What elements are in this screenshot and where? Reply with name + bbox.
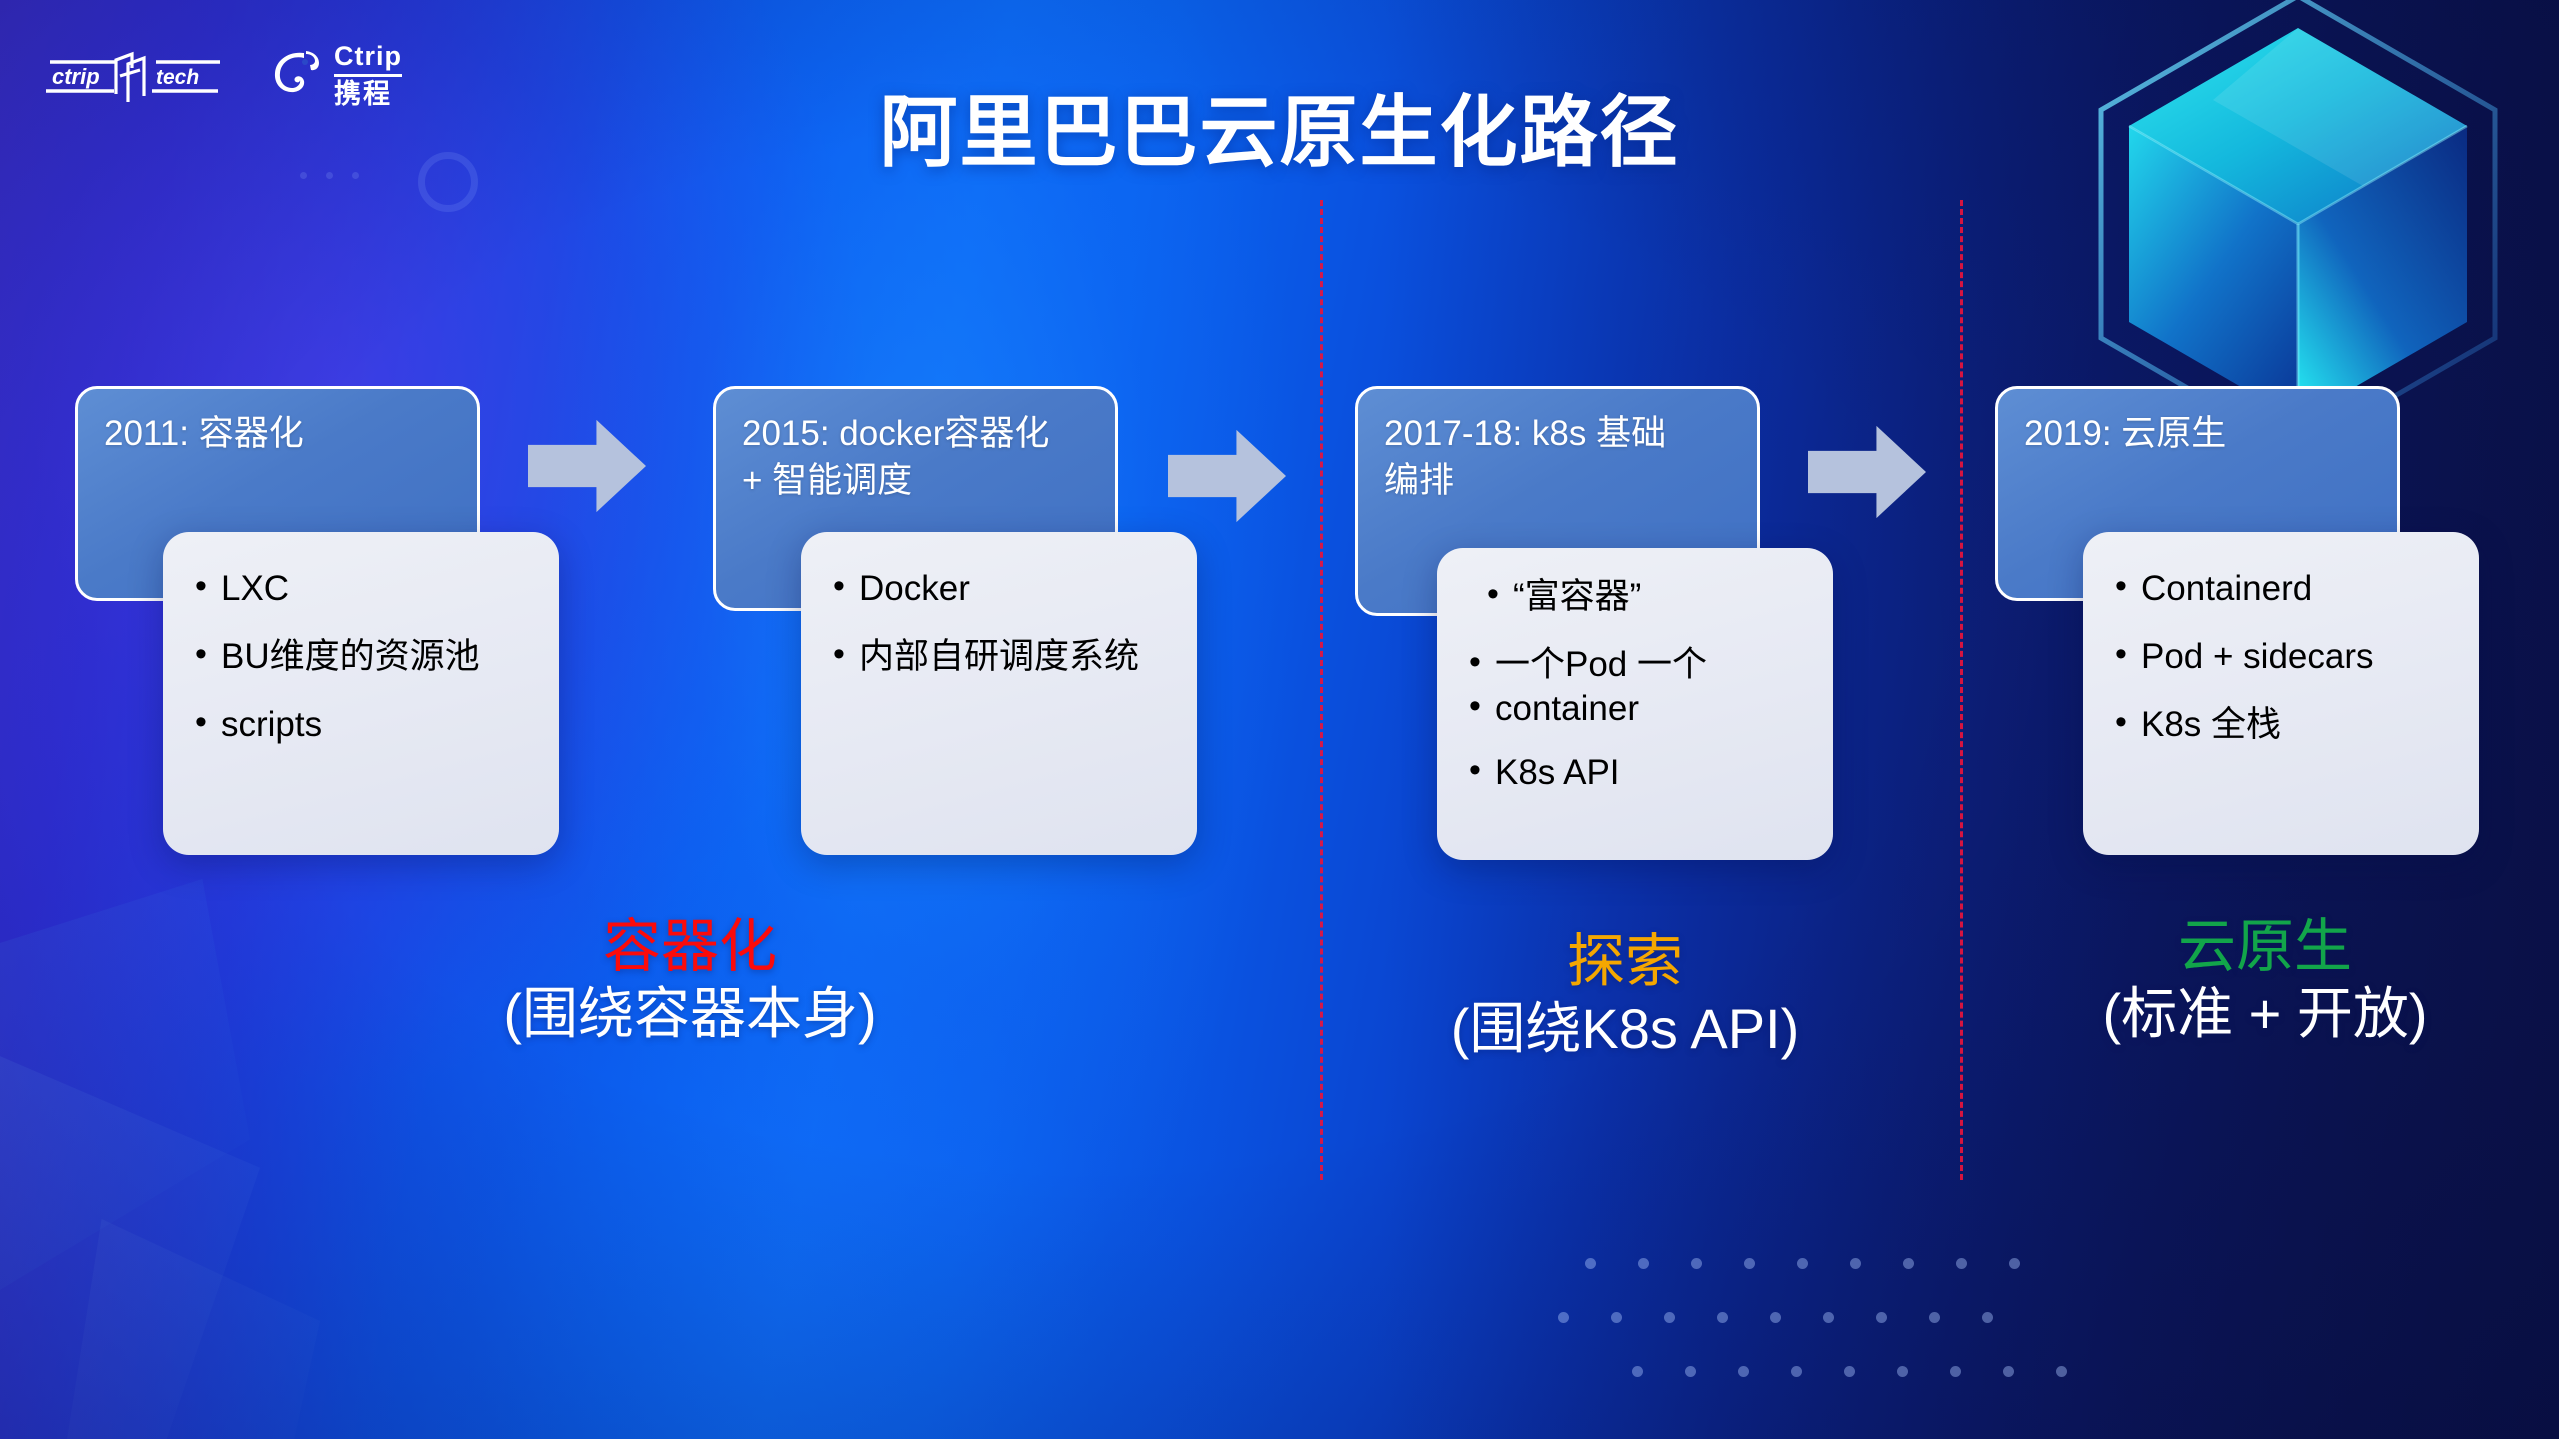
list-item-continuation: container: [1467, 688, 1803, 730]
stage-4-bullet-list: Containerd Pod + sidecars K8s 全栈: [2113, 568, 2449, 746]
phase-label-containerization: 容器化 (围绕容器本身): [355, 915, 1025, 1047]
list-item: scripts: [193, 704, 529, 746]
stage-2-body-card: Docker 内部自研调度系统: [801, 532, 1197, 855]
slide-root: ctrip tech Ctrip 携程: [0, 0, 2559, 1439]
list-item: Containerd: [2113, 568, 2449, 610]
stage-4-header-text: 2019: 云原生: [2024, 411, 2371, 458]
phase-divider-2: [1960, 200, 1963, 1180]
stage-2-bullet-list: Docker 内部自研调度系统: [831, 568, 1167, 678]
list-item: BU维度的资源池: [193, 636, 529, 678]
stage-3-body-card: “富容器” 一个Pod 一个 container K8s API: [1437, 548, 1833, 860]
phase-1-subtitle: (围绕容器本身): [355, 982, 1025, 1047]
phase-label-cloud-native: 云原生 (标准 + 开放): [1975, 915, 2555, 1047]
list-item: LXC: [193, 568, 529, 610]
stage-1-bullet-list: LXC BU维度的资源池 scripts: [193, 568, 529, 746]
list-item: 内部自研调度系统: [831, 636, 1167, 678]
list-item: Pod + sidecars: [2113, 636, 2449, 678]
stage-4-body-card: Containerd Pod + sidecars K8s 全栈: [2083, 532, 2479, 855]
isometric-cube-decoration: [2063, 0, 2533, 448]
phase-2-title: 探索: [1330, 930, 1920, 995]
list-item: “富容器”: [1467, 576, 1803, 618]
phase-1-title: 容器化: [355, 915, 1025, 980]
list-item: Docker: [831, 568, 1167, 610]
phase-label-exploration: 探索 (围绕K8s API): [1330, 930, 1920, 1062]
phase-3-title: 云原生: [1975, 915, 2555, 980]
stage-1-body-card: LXC BU维度的资源池 scripts: [163, 532, 559, 855]
phase-3-subtitle: (标准 + 开放): [1975, 982, 2555, 1047]
stage-3-header-text: 2017-18: k8s 基础 编排: [1384, 411, 1731, 505]
phase-2-subtitle: (围绕K8s API): [1330, 997, 1920, 1062]
list-item: K8s 全栈: [2113, 704, 2449, 746]
stage-1-header-text: 2011: 容器化: [104, 411, 451, 458]
ctrip-logo-text-en: Ctrip: [334, 41, 402, 71]
stage-3-bullet-list: “富容器” 一个Pod 一个 container K8s API: [1467, 576, 1803, 794]
list-item: K8s API: [1467, 752, 1803, 794]
stage-2-header-text: 2015: docker容器化 + 智能调度: [742, 411, 1089, 505]
list-item: 一个Pod 一个: [1467, 644, 1803, 686]
page-title: 阿里巴巴云原生化路径: [0, 70, 2559, 182]
phase-divider-1: [1320, 200, 1323, 1180]
